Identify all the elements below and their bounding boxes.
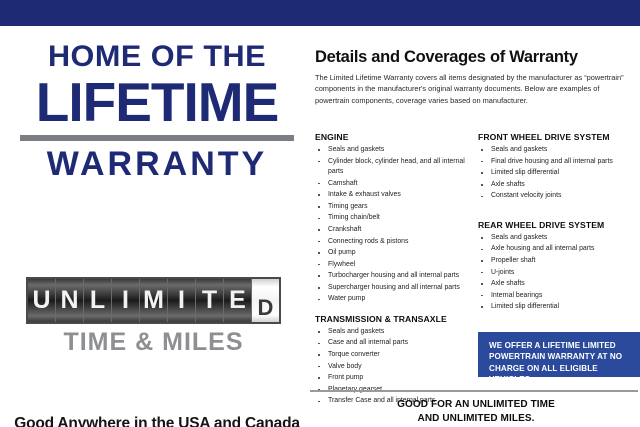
list-item: Supercharger housing and all internal pa… xyxy=(315,283,475,293)
odometer-digit: T xyxy=(202,288,217,313)
odometer-cell: I xyxy=(168,279,196,322)
list-item: Propeller shaft xyxy=(478,256,637,266)
section-heading-front-wheel-drive: FRONT WHEEL DRIVE SYSTEM xyxy=(478,132,637,142)
odometer-cell: I xyxy=(112,279,140,322)
coverage-column-left: ENGINE Seals and gaskets Cylinder block,… xyxy=(315,132,475,416)
odometer-digit: E xyxy=(229,288,246,313)
brand-gray-bar xyxy=(20,135,294,141)
page-title: Details and Coverages of Warranty xyxy=(315,48,637,67)
brand-panel: HOME OF THE LIFETIME WARRANTY U N L I M … xyxy=(0,28,306,427)
front-wheel-drive-item-list: Seals and gaskets Final drive housing an… xyxy=(478,145,637,202)
intro-paragraph: The Limited Lifetime Warranty covers all… xyxy=(315,72,633,106)
brand-line-warranty: WARRANTY xyxy=(14,147,300,181)
list-item: Case and all internal parts xyxy=(315,338,475,348)
section-heading-rear-wheel-drive: REAR WHEEL DRIVE SYSTEM xyxy=(478,220,637,230)
section-engine: ENGINE Seals and gaskets Cylinder block,… xyxy=(315,132,475,305)
list-item: Constant velocity joints xyxy=(478,191,637,201)
footer-line-1: GOOD FOR AN UNLIMITED TIME xyxy=(315,398,637,412)
list-item: Limited slip differential xyxy=(478,168,637,178)
odometer-cell: U xyxy=(28,279,56,322)
list-item: Torque converter xyxy=(315,350,475,360)
list-item: Seals and gaskets xyxy=(315,327,475,337)
coverage-column-right: FRONT WHEEL DRIVE SYSTEM Seals and gaske… xyxy=(478,132,637,322)
odometer-digit: D xyxy=(258,297,274,319)
section-transmission: TRANSMISSION & TRANSAXLE Seals and gaske… xyxy=(315,314,475,407)
odometer-digit: U xyxy=(32,288,50,313)
callout-line-2: POWERTRAIN WARRANTY AT NO xyxy=(489,351,640,362)
list-item: U-joints xyxy=(478,268,637,278)
brand-line-lifetime: LIFETIME xyxy=(14,74,300,130)
odometer-cell: E xyxy=(224,279,252,322)
odometer-digit: L xyxy=(90,288,105,313)
list-item: Seals and gaskets xyxy=(478,233,637,243)
list-item: Connecting rods & pistons xyxy=(315,237,475,247)
list-item: Seals and gaskets xyxy=(478,145,637,155)
list-item: Flywheel xyxy=(315,260,475,270)
rear-wheel-drive-item-list: Seals and gaskets Axle housing and all i… xyxy=(478,233,637,313)
brand-line-home: HOME OF THE xyxy=(11,42,303,72)
list-item: Final drive housing and all internal par… xyxy=(478,157,637,167)
list-item: Intake & exhaust valves xyxy=(315,190,475,200)
list-item: Axle housing and all internal parts xyxy=(478,244,637,254)
engine-item-list: Seals and gaskets Cylinder block, cylind… xyxy=(315,145,475,305)
top-navy-band xyxy=(0,0,640,26)
list-item: Oil pump xyxy=(315,248,475,258)
odometer-cell: N xyxy=(56,279,84,322)
list-item: Timing chain/belt xyxy=(315,213,475,223)
odometer-cell: M xyxy=(140,279,168,322)
list-item: Camshaft xyxy=(315,179,475,189)
odometer-cell: T xyxy=(196,279,224,322)
callout-line-1: WE OFFER A LIFETIME LIMITED xyxy=(489,340,640,351)
lifetime-warranty-callout: WE OFFER A LIFETIME LIMITED POWERTRAIN W… xyxy=(478,332,640,377)
section-front-wheel-drive: FRONT WHEEL DRIVE SYSTEM Seals and gaske… xyxy=(478,132,637,202)
odometer-digit: N xyxy=(60,288,78,313)
list-item: Water pump xyxy=(315,294,475,304)
coverage-area-tagline: Good Anywhere in the USA and Canada xyxy=(14,415,300,427)
warranty-flyer: HOME OF THE LIFETIME WARRANTY U N L I M … xyxy=(0,0,640,427)
footer-divider xyxy=(310,390,638,392)
odometer-cell-rolling: D xyxy=(252,279,279,322)
list-item: Axle shafts xyxy=(478,180,637,190)
time-and-miles-label: TIME & MILES xyxy=(26,328,281,357)
odometer-digit: I xyxy=(178,288,185,313)
list-item: Limited slip differential xyxy=(478,302,637,312)
section-heading-engine: ENGINE xyxy=(315,132,475,142)
list-item: Front pump xyxy=(315,373,475,383)
brand-logo: HOME OF THE LIFETIME WARRANTY xyxy=(14,42,300,181)
transmission-item-list: Seals and gaskets Case and all internal … xyxy=(315,327,475,407)
details-panel: Details and Coverages of Warranty The Li… xyxy=(308,28,640,427)
list-item: Turbocharger housing and all internal pa… xyxy=(315,271,475,281)
callout-line-3: CHARGE ON ALL ELIGIBLE VEHICLES. xyxy=(489,363,640,386)
list-item: Seals and gaskets xyxy=(315,145,475,155)
list-item: Axle shafts xyxy=(478,279,637,289)
footer-text: GOOD FOR AN UNLIMITED TIME AND UNLIMITED… xyxy=(315,398,637,426)
odometer-graphic: U N L I M I T E D xyxy=(26,277,281,324)
odometer-cell: L xyxy=(84,279,112,322)
list-item: Crankshaft xyxy=(315,225,475,235)
list-item: Timing gears xyxy=(315,202,475,212)
footer-line-2: AND UNLIMITED MILES. xyxy=(315,412,637,426)
section-heading-transmission: TRANSMISSION & TRANSAXLE xyxy=(315,314,475,324)
list-item: Valve body xyxy=(315,362,475,372)
section-rear-wheel-drive: REAR WHEEL DRIVE SYSTEM Seals and gasket… xyxy=(478,220,637,313)
odometer-digit: I xyxy=(122,288,129,313)
list-item: Cylinder block, cylinder head, and all i… xyxy=(315,157,475,178)
list-item: Internal bearings xyxy=(478,291,637,301)
odometer-digit: M xyxy=(143,288,164,313)
